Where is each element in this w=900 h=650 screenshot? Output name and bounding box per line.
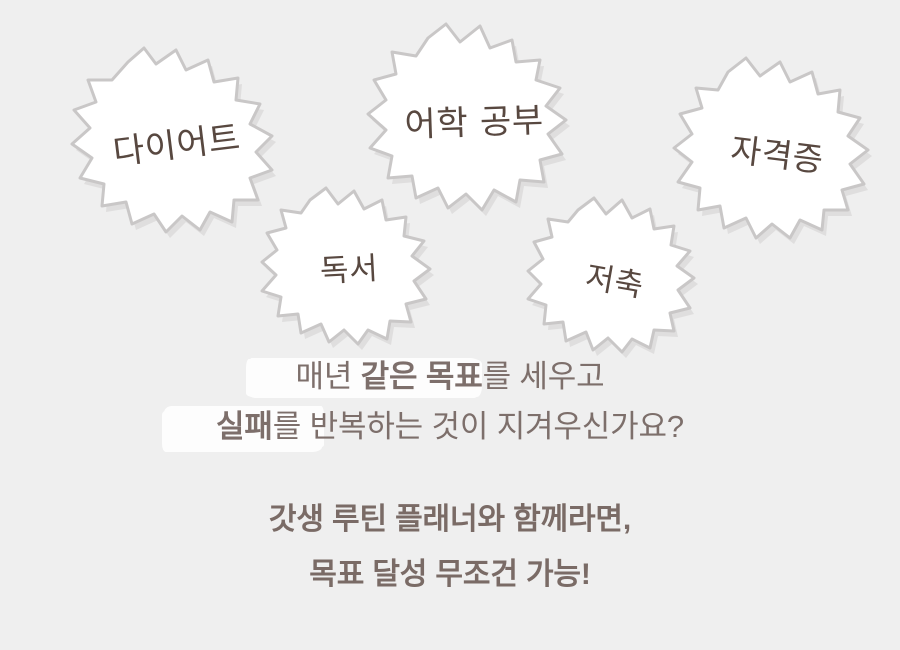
subhead-line1-text: 갓생 루틴 플래너와 함께라면, [269,492,631,547]
subhead-line-2: 목표 달성 무조건 가능! [0,547,900,602]
starburst-icon [70,44,290,234]
keyword-bubble-reading: 독서 [262,186,440,344]
starburst-icon [262,186,440,344]
starburst-icon [528,196,704,352]
headline-line-1: 매년 같은 목표를 세우고 [0,352,900,402]
headline-line-2: 실패를 반복하는 것이 지겨우신가요? [0,402,900,452]
headline-line1-seg1: 매년 [295,359,360,394]
subhead-block: 갓생 루틴 플래너와 함께라면, 목표 달성 무조건 가능! [0,492,900,602]
promo-banner: 다이어트 어학 공부 자격증 [0,0,900,650]
headline-line1-seg3: 를 세우고 [483,359,605,394]
keyword-bubble-language: 어학 공부 [368,22,580,212]
headline-line1-seg2: 같은 목표 [361,359,483,394]
headline-line2-seg1: 실패 [216,409,273,444]
keyword-bubble-group: 다이어트 어학 공부 자격증 [0,0,900,340]
starburst-icon [368,22,580,212]
headline-block: 매년 같은 목표를 세우고 실패를 반복하는 것이 지겨우신가요? [0,352,900,452]
subhead-line-1: 갓생 루틴 플래너와 함께라면, [0,492,900,547]
subhead-line2-text: 목표 달성 무조건 가능! [309,547,590,602]
headline-line2-seg2: 를 반복하는 것이 지겨우신가요? [273,409,684,444]
keyword-bubble-diet: 다이어트 [70,44,290,234]
keyword-bubble-saving: 저축 [528,196,704,352]
